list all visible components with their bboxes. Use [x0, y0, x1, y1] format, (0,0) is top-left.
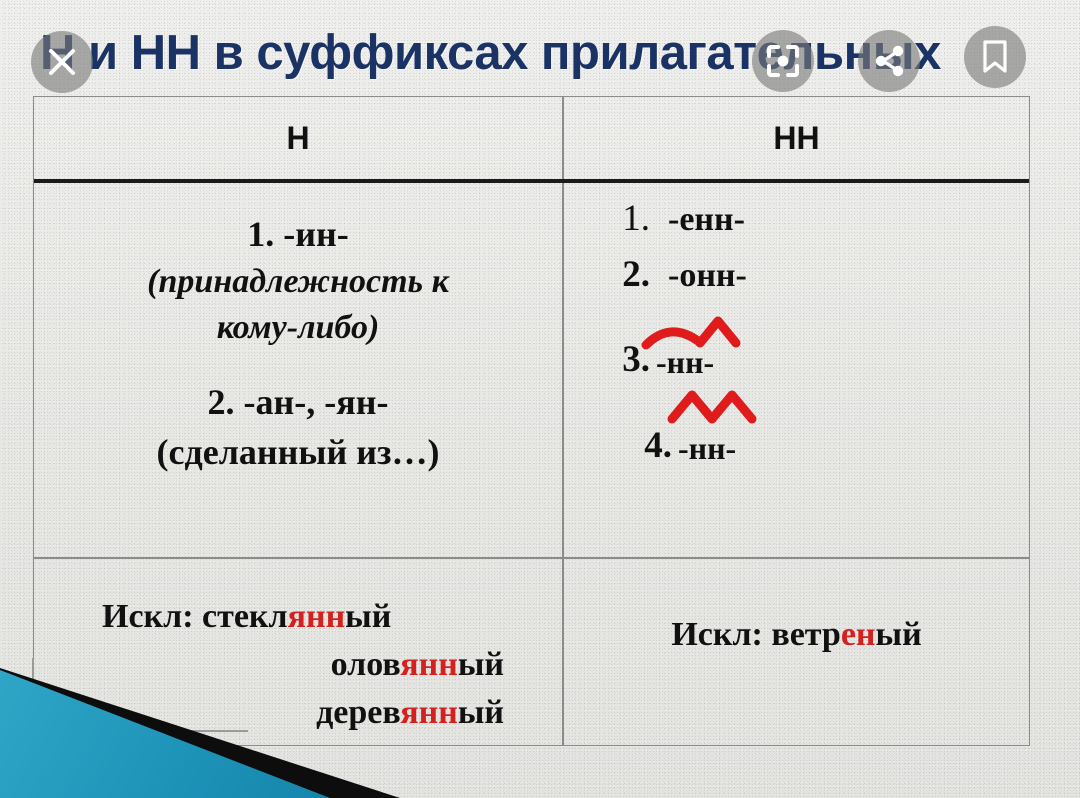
- exception-word-highlight: ен: [841, 616, 876, 653]
- rules-cell-nn: 1. -енн- 2. -онн- 3. -нн-: [564, 183, 1029, 557]
- table-header-row: Н НН: [34, 97, 1029, 183]
- double-suffix-mark-icon: [666, 387, 776, 427]
- close-icon: [45, 45, 79, 79]
- nn-rule-1-suffix: -енн-: [668, 201, 745, 239]
- exception-word-highlight: янн: [400, 646, 458, 683]
- nn-rule-item: 2. -онн-: [588, 253, 1029, 309]
- exception-word-prefix: дерев: [316, 694, 400, 731]
- nn-exceptions-list: Искл: ветреный: [564, 559, 1029, 659]
- nn-rule-3-suffix: -нн-: [656, 344, 714, 381]
- exception-word-suffix: ый: [458, 646, 504, 683]
- exception-item: Искл: ветреный: [564, 611, 1029, 659]
- n-rule-1-gloss-b: кому-либо): [34, 305, 562, 351]
- rules-cell-n: 1. -ин- (принадлежность к кому-либо) 2. …: [34, 183, 564, 557]
- n-rule-2-gloss-a: (сделанный из…): [34, 427, 562, 477]
- nn-rule-2-suffix: -онн-: [668, 257, 747, 295]
- exception-word-highlight: янн: [288, 598, 346, 635]
- nn-rules-list: 1. -енн- 2. -онн- 3. -нн-: [564, 183, 1029, 467]
- slide-canvas: Н и НН в суффиксах прилагательных: [0, 0, 1080, 798]
- lens-search-button[interactable]: [752, 30, 814, 92]
- exception-label: Искл:: [102, 598, 194, 635]
- n-rules-list: 1. -ин- (принадлежность к кому-либо) 2. …: [34, 183, 562, 477]
- nn-rule-4-number: 4.: [610, 424, 672, 467]
- column-header-nn: НН: [564, 97, 1029, 179]
- nn-rule-item: 3. -нн-: [588, 309, 1029, 381]
- nn-rule-item: 4. -нн-: [588, 381, 1029, 467]
- exception-word-prefix: стекл: [202, 598, 288, 635]
- bookmark-icon: [978, 38, 1012, 76]
- n-rule-1-gloss-a: (принадлежность к: [34, 259, 562, 305]
- exception-item: Искл: стеклянный: [34, 593, 504, 641]
- column-header-n: Н: [34, 97, 562, 179]
- n-rule-2: 2. -ан-, -ян-: [34, 377, 562, 427]
- header-cell-n: Н: [34, 97, 564, 179]
- share-button[interactable]: [858, 30, 920, 92]
- exception-word-highlight: янн: [400, 694, 458, 731]
- lens-icon: [765, 43, 801, 79]
- bookmark-button[interactable]: [964, 26, 1026, 88]
- exceptions-cell-nn: Искл: ветреный: [564, 559, 1029, 745]
- n-rule-1: 1. -ин-: [34, 209, 562, 259]
- spacer: [34, 351, 562, 377]
- rules-table: Н НН 1. -ин- (принадлежность к кому-либо…: [33, 96, 1030, 746]
- share-icon: [872, 44, 906, 78]
- exception-word-prefix: ветр: [771, 616, 840, 653]
- nn-rule-3-number: 3.: [588, 338, 650, 381]
- exception-word-suffix: ый: [876, 616, 922, 653]
- exception-word-prefix: олов: [331, 646, 401, 683]
- nn-rule-2-number: 2.: [588, 253, 650, 296]
- exception-label: Искл:: [671, 616, 763, 653]
- exception-word-suffix: ый: [345, 598, 391, 635]
- header-cell-nn: НН: [564, 97, 1029, 179]
- nn-rule-item: 1. -енн-: [588, 197, 1029, 253]
- close-button[interactable]: [31, 31, 93, 93]
- nn-rule-1-number: 1.: [588, 197, 650, 240]
- nn-rule-4-suffix: -нн-: [678, 430, 736, 467]
- table-rules-row: 1. -ин- (принадлежность к кому-либо) 2. …: [34, 183, 1029, 559]
- exception-word-suffix: ый: [458, 694, 504, 731]
